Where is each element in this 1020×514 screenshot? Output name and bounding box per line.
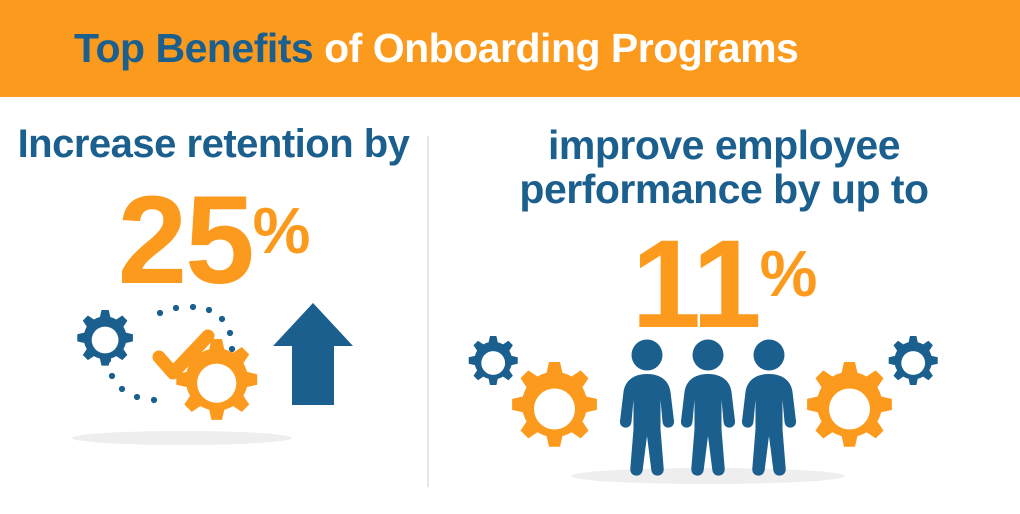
panel-retention-stat-unit: % [253, 198, 310, 263]
small-gear-icon [889, 336, 938, 385]
panel-retention-heading: Increase retention by [18, 123, 410, 166]
small-gear-icon [469, 336, 518, 385]
people-group-icon [620, 339, 796, 475]
large-gear-icon [176, 339, 257, 420]
small-gear-icon [77, 310, 133, 366]
page-title-accent: Top Benefits [74, 25, 313, 71]
page-title: Top Benefits of Onboarding Programs [0, 28, 798, 69]
person-icon [620, 339, 674, 475]
infographic-root: Top Benefits of Onboarding Programs Incr… [0, 0, 1020, 514]
panel-performance-illustration [428, 347, 1020, 514]
panel-performance-stat: 11 % [632, 222, 817, 347]
page-title-rest: of Onboarding Programs [313, 25, 798, 71]
panel-retention-stat-number: 25 [118, 178, 253, 303]
large-gear-icon [807, 362, 892, 447]
person-icon [681, 339, 735, 475]
panel-retention-stat: 25 % [118, 178, 310, 303]
panel-performance: improve employee performance by up to 11… [428, 97, 1020, 514]
panel-retention-illustration [0, 303, 427, 514]
up-arrow-icon [273, 303, 353, 405]
panel-retention: Increase retention by 25 % [0, 97, 427, 514]
ground-shadow-icon [72, 431, 292, 445]
person-icon [742, 339, 796, 475]
ground-shadow-icon [571, 468, 845, 484]
panel-performance-stat-number: 11 [632, 222, 760, 347]
panel-performance-stat-unit: % [760, 241, 817, 306]
header-banner: Top Benefits of Onboarding Programs [0, 0, 1020, 97]
panels-container: Increase retention by 25 % [0, 97, 1020, 514]
large-gear-icon [512, 362, 597, 447]
panel-performance-heading: improve employee performance by up to [428, 123, 1020, 212]
